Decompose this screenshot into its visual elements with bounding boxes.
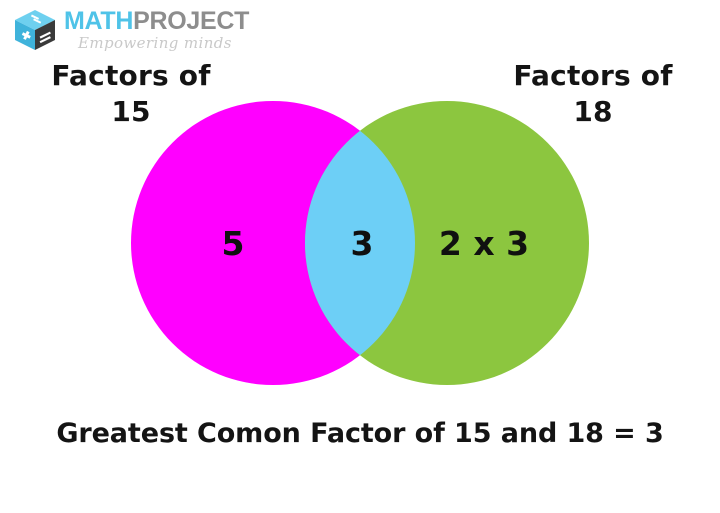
- venn-diagram-page: MATHPROJECT Empowering minds Factors of …: [0, 0, 720, 513]
- gcf-caption: Greatest Comon Factor of 15 and 18 = 3: [0, 418, 720, 449]
- venn-value-left: 5: [178, 227, 288, 260]
- venn-value-intersection: 3: [317, 227, 407, 260]
- venn-value-right: 2 x 3: [408, 227, 560, 260]
